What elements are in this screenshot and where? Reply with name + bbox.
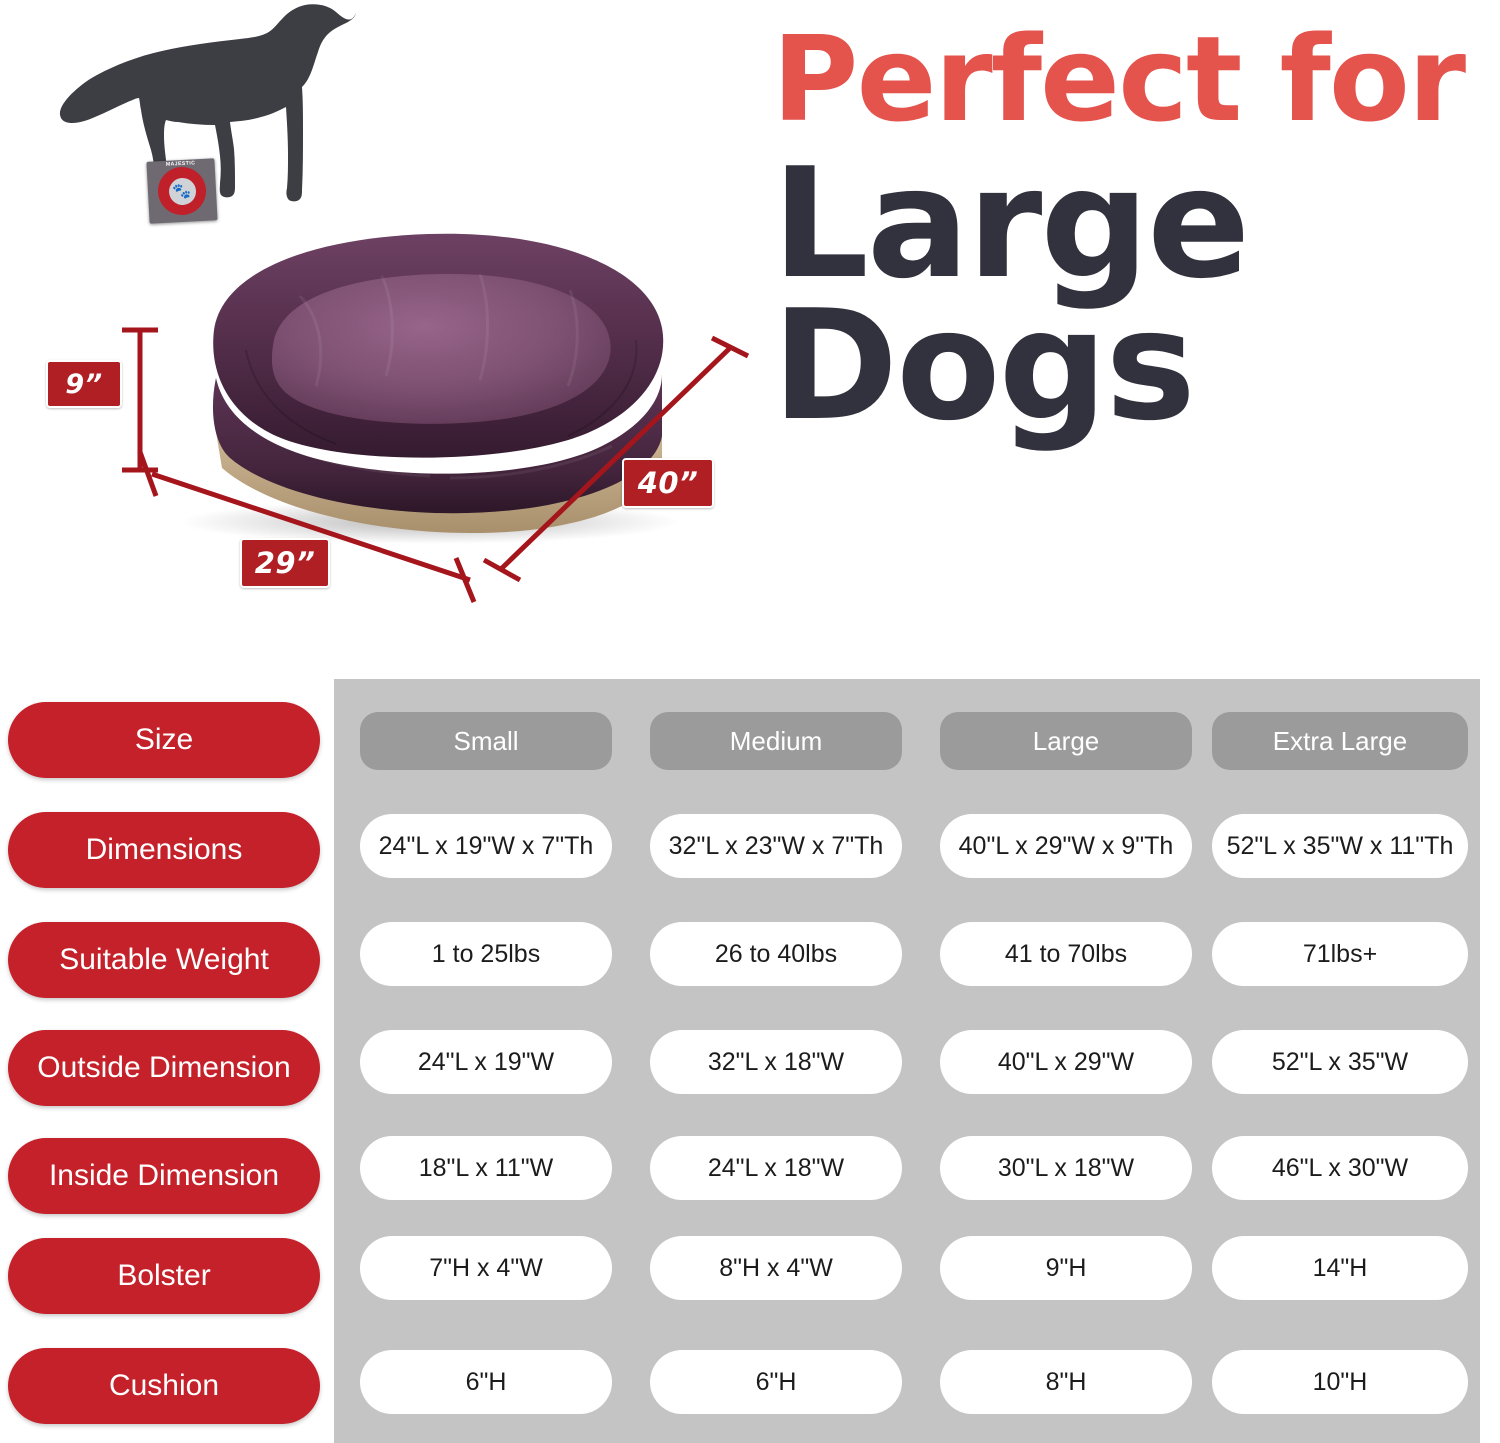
headline-line-2: Large [772, 150, 1492, 297]
row-label-outside-dimension: Outside Dimension [8, 1030, 320, 1106]
length-dimension-label: 40” [622, 458, 714, 508]
row-label-inside-dimension: Inside Dimension [8, 1138, 320, 1214]
table-cell: 7"H x 4"W [360, 1236, 612, 1300]
brand-tag-ring: 🐾 [157, 166, 207, 216]
table-cell: 71lbs+ [1212, 922, 1468, 986]
paw-print-icon: 🐾 [172, 183, 191, 199]
hero-section: MAJESTIC 🐾 9” 29” 40” Perfect for Larg [0, 0, 1500, 668]
table-cell: 24"L x 19"W x 7"Th [360, 814, 612, 878]
column-header-small: Small [360, 712, 612, 770]
table-cell: 24"L x 18"W [650, 1136, 902, 1200]
headline-line-3: Dogs [772, 292, 1492, 439]
row-label-bolster: Bolster [8, 1238, 320, 1314]
table-cell: 18"L x 11"W [360, 1136, 612, 1200]
majestic-pet-brand-tag: MAJESTIC 🐾 [146, 158, 217, 223]
table-cell: 1 to 25lbs [360, 922, 612, 986]
table-cell: 40"L x 29"W [940, 1030, 1192, 1094]
table-cell: 52"L x 35"W [1212, 1030, 1468, 1094]
table-cell: 41 to 70lbs [940, 922, 1192, 986]
row-label-suitable-weight: Suitable Weight [8, 922, 320, 998]
headline-line-1: Perfect for [772, 22, 1492, 136]
row-label-size: Size [8, 702, 320, 778]
table-cell: 8"H x 4"W [650, 1236, 902, 1300]
table-cell: 32"L x 23"W x 7"Th [650, 814, 902, 878]
table-cell: 32"L x 18"W [650, 1030, 902, 1094]
column-header-medium: Medium [650, 712, 902, 770]
column-header-extra-large: Extra Large [1212, 712, 1468, 770]
table-cell: 6"H [650, 1350, 902, 1414]
table-cell: 10"H [1212, 1350, 1468, 1414]
height-dimension-label: 9” [46, 360, 122, 408]
brand-tag-inner-circle: 🐾 [168, 177, 196, 205]
table-cell: 8"H [940, 1350, 1192, 1414]
table-cell: 14"H [1212, 1236, 1468, 1300]
table-cell: 24"L x 19"W [360, 1030, 612, 1094]
spec-table: SizeDimensionsSuitable WeightOutside Dim… [0, 679, 1500, 1443]
table-cell: 30"L x 18"W [940, 1136, 1192, 1200]
row-label-cushion: Cushion [8, 1348, 320, 1424]
column-header-large: Large [940, 712, 1192, 770]
headline-block: Perfect for Large Dogs [772, 22, 1492, 439]
table-cell: 52"L x 35"W x 11"Th [1212, 814, 1468, 878]
table-cell: 40"L x 29"W x 9"Th [940, 814, 1192, 878]
table-cell: 6"H [360, 1350, 612, 1414]
table-cell: 26 to 40lbs [650, 922, 902, 986]
row-label-dimensions: Dimensions [8, 812, 320, 888]
table-cell: 9"H [940, 1236, 1192, 1300]
width-dimension-label: 29” [240, 538, 330, 588]
table-cell: 46"L x 30"W [1212, 1136, 1468, 1200]
